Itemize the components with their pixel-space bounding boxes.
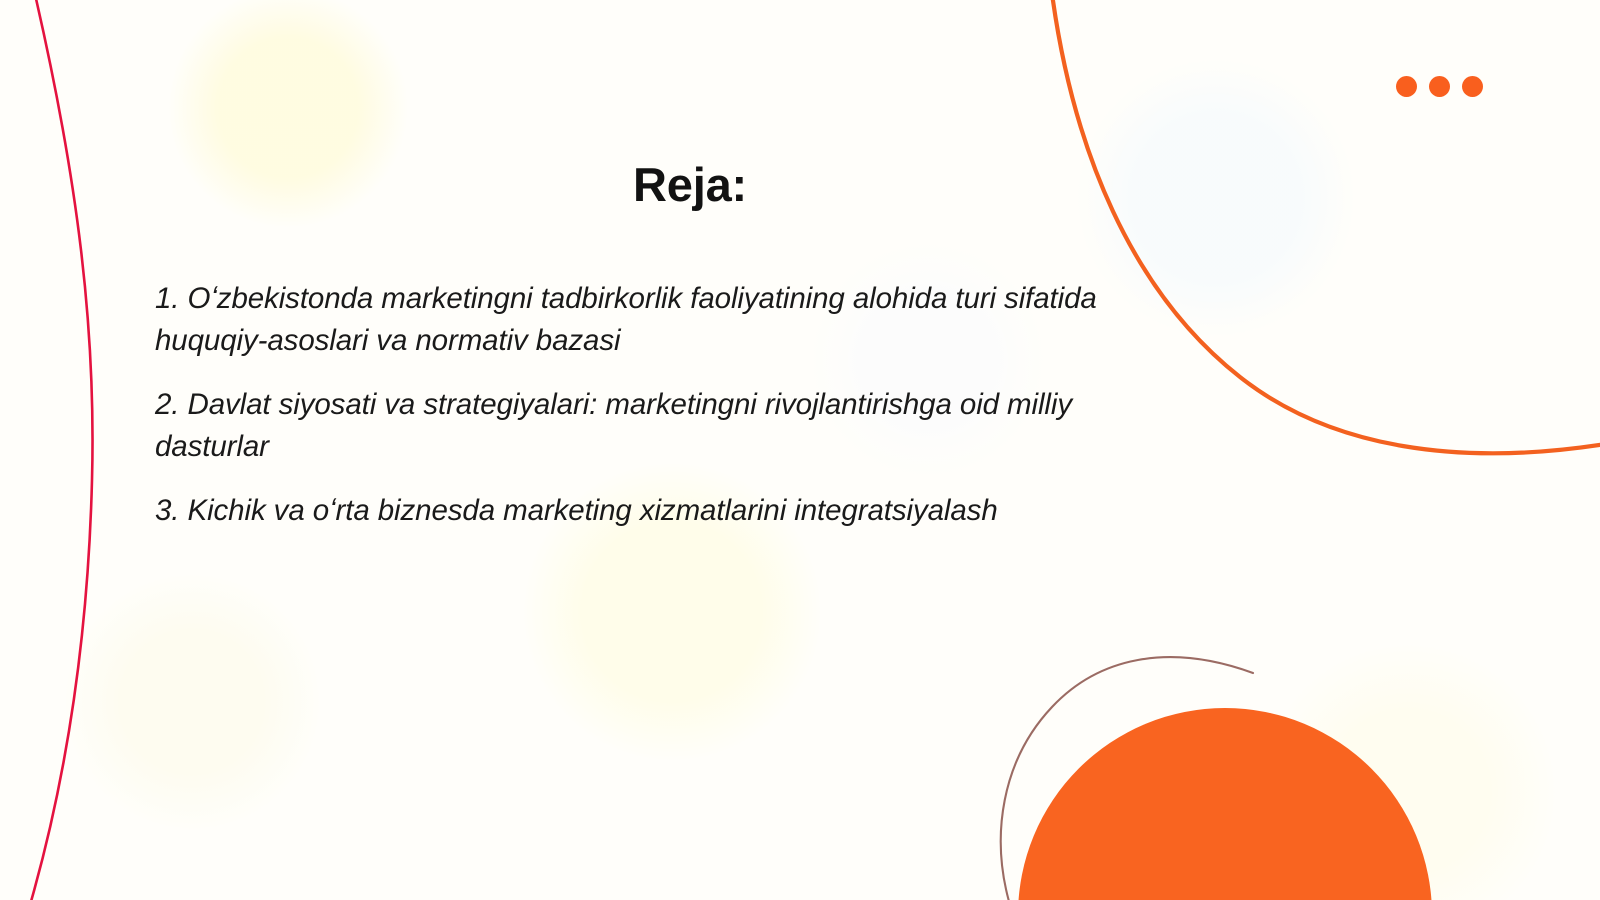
page-title: Reja: — [160, 159, 1220, 211]
slide-content: Reja: 1. Oʻzbekistonda marketingni tadbi… — [0, 0, 1600, 900]
list-item: 3. Kichik va oʻrta biznesda marketing xi… — [155, 490, 1115, 532]
presentation-slide: Reja: 1. Oʻzbekistonda marketingni tadbi… — [0, 0, 1600, 900]
decorative-dot-icon — [1429, 76, 1450, 97]
decorative-dot-icon — [1396, 76, 1417, 97]
plan-list: 1. Oʻzbekistonda marketingni tadbirkorli… — [155, 278, 1115, 531]
list-item: 2. Davlat siyosati va strategiyalari: ma… — [155, 384, 1115, 468]
decorative-dot-icon — [1462, 76, 1483, 97]
list-item: 1. Oʻzbekistonda marketingni tadbirkorli… — [155, 278, 1115, 362]
